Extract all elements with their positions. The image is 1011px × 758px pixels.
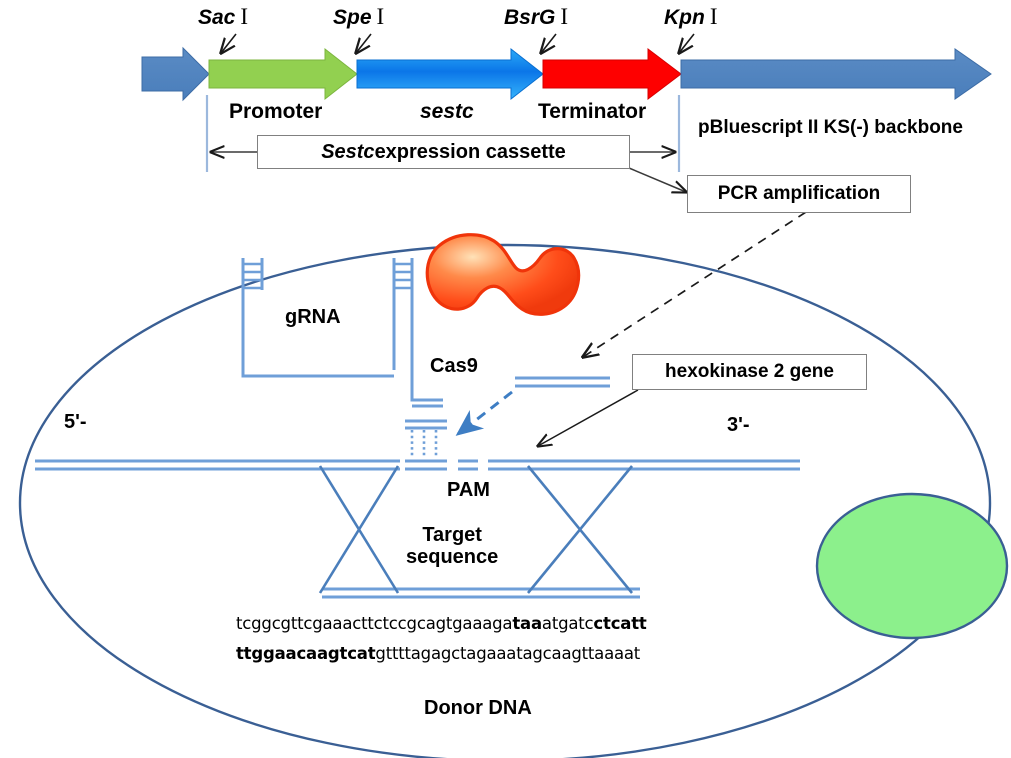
sestc-expression-cassette-box: Sestc expression cassette	[257, 135, 630, 169]
hexokinase-fragment-duplex	[515, 378, 610, 386]
sequence-run-bold: ctcatt	[593, 614, 646, 633]
construct-segment-terminator	[543, 49, 681, 99]
pcr-to-cell-dashed-arrow	[583, 212, 806, 357]
fragment-insertion-arrow	[458, 392, 512, 434]
sequence-run-plain: tcggcgttcgaaacttctccgcagtgaaaga	[236, 614, 512, 633]
hexokinase-label-leader	[538, 390, 638, 446]
cassette-box-prefix: Sestc	[321, 141, 374, 164]
restriction-site-pointers	[221, 34, 694, 53]
construct-segment-sestc	[357, 49, 543, 99]
construct-segment-backbone-right	[681, 49, 991, 99]
donor-dna-label: Donor DNA	[424, 697, 532, 719]
sestc-label: sestc	[420, 100, 474, 123]
three-prime-label: 3'-	[727, 414, 750, 436]
spe-pointer	[356, 34, 371, 53]
sequence-run-bold: taa	[512, 614, 542, 633]
sequence-run-plain: atgatc	[542, 614, 594, 633]
restriction-site-bsrg: BsrGI	[504, 4, 568, 29]
pam-label: PAM	[447, 479, 490, 501]
target-label-line2: sequence	[406, 546, 498, 568]
green-organelle	[817, 494, 1007, 638]
construct-segment-promoter	[209, 49, 357, 99]
cassette-to-pcr-connector	[629, 168, 686, 192]
figure-canvas: SacI SpeI BsrGI KpnI Promoter sestc Term…	[0, 0, 1011, 758]
five-prime-label: 5'-	[64, 411, 87, 433]
restriction-site-spe: SpeI	[333, 4, 384, 29]
pcr-amplification-box: PCR amplification	[687, 175, 911, 213]
donor-sequence-line2: ttggaacaagtcatgttttagagctagaaatagcaagtta…	[236, 644, 640, 663]
donor-dna-duplex	[322, 589, 640, 597]
sequence-run-plain: gttttagagctagaaatagcaagttaaaat	[375, 644, 640, 663]
cell-membrane	[20, 245, 990, 758]
construct-segment-backbone-left	[142, 48, 209, 100]
hexokinase-2-gene-box: hexokinase 2 gene	[632, 354, 867, 390]
promoter-label: Promoter	[229, 100, 322, 123]
grna-target-pairing	[405, 421, 447, 458]
grna-structure	[243, 258, 443, 406]
bsrg-pointer	[541, 34, 556, 53]
sac-pointer	[221, 34, 236, 53]
cas9-label: Cas9	[430, 355, 478, 377]
donor-sequence-line1: tcggcgttcgaaacttctccgcagtgaaagataaatgatc…	[236, 614, 647, 633]
genomic-dna-strand	[35, 461, 800, 469]
terminator-label: Terminator	[538, 100, 646, 123]
grna-label: gRNA	[285, 306, 341, 328]
backbone-label: pBluescript II KS(-) backbone	[698, 118, 963, 139]
cassette-box-suffix: expression cassette	[375, 141, 566, 164]
restriction-site-kpn: KpnI	[664, 4, 718, 29]
restriction-site-sac: SacI	[198, 4, 248, 29]
target-sequence-label: Target sequence	[406, 524, 498, 568]
target-label-line1: Target	[422, 524, 482, 546]
kpn-pointer	[679, 34, 694, 53]
sequence-run-bold: ttggaacaagtcat	[236, 644, 375, 663]
